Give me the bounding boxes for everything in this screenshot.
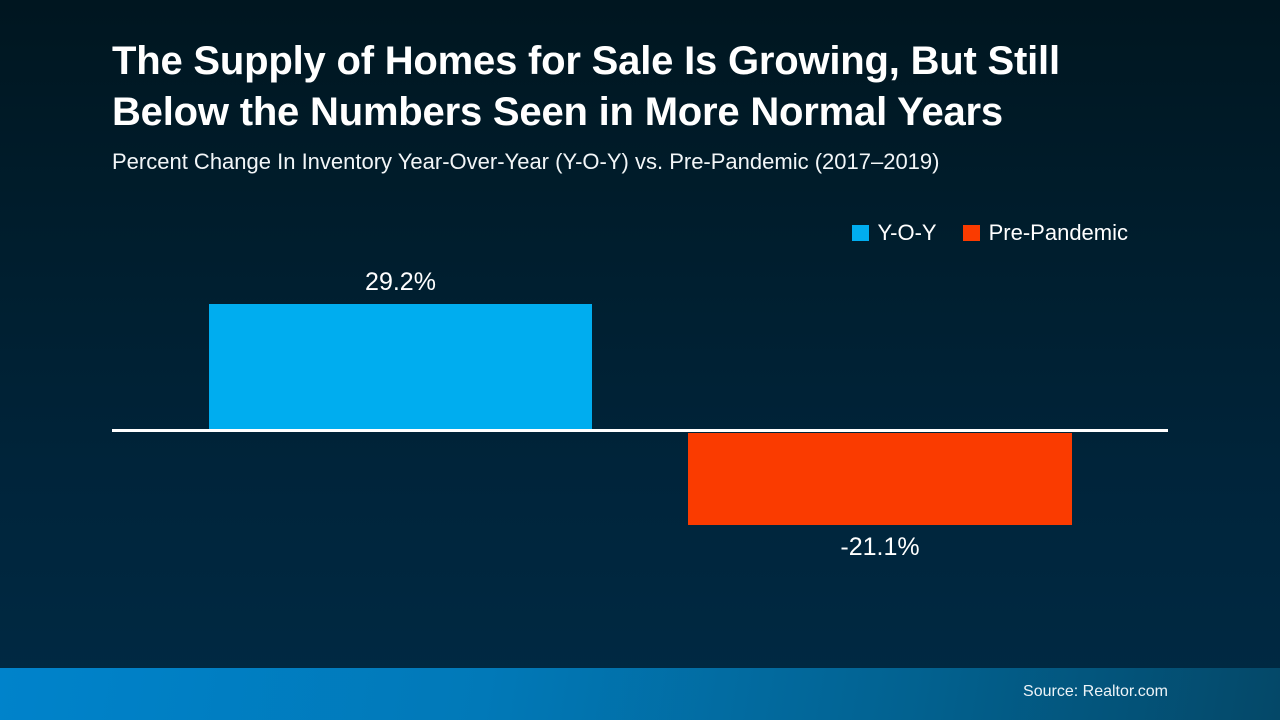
source-attribution: Source: Realtor.com <box>1023 684 1168 700</box>
bar-value-label-pre-pandemic: -21.1% <box>688 535 1072 560</box>
zero-axis-line <box>112 429 1168 432</box>
footer-bar: Source: Realtor.com <box>0 668 1280 720</box>
chart-plot-area: 29.2% -21.1% <box>0 0 1280 668</box>
bar-yoy[interactable] <box>209 304 592 430</box>
bar-pre-pandemic[interactable] <box>688 433 1072 525</box>
bar-value-label-yoy: 29.2% <box>209 270 592 295</box>
